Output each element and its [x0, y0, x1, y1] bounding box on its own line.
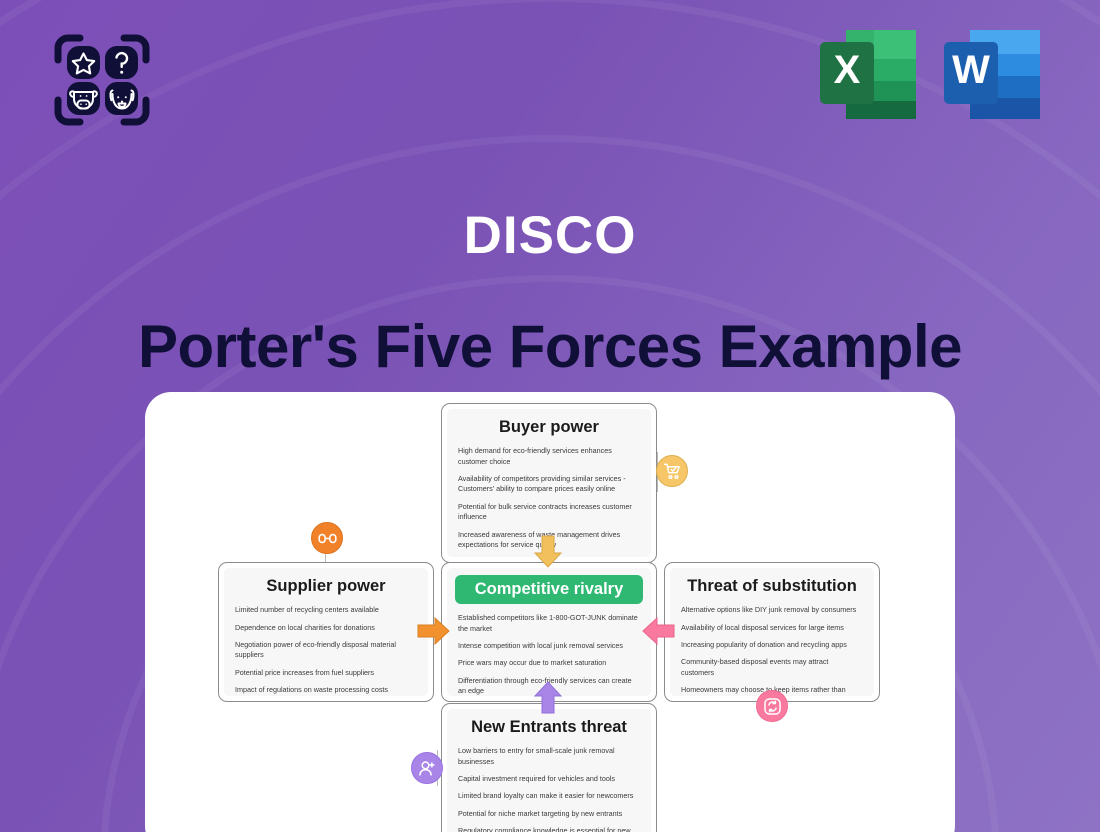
handshake-icon — [318, 529, 337, 548]
list-item: Potential for niche market targeting by … — [458, 809, 640, 819]
poster-canvas: X W DISCO Porter's Five Forces Example — [0, 0, 1100, 832]
force-title-supplier-power: Supplier power — [235, 577, 417, 595]
force-box-inner: Threat of substitution Alternative optio… — [670, 568, 874, 696]
brand-name: DISCO — [0, 205, 1100, 266]
list-item: Intense competition with local junk remo… — [458, 641, 640, 651]
arrow-entrants-to-rivalry — [533, 680, 563, 714]
excel-letter: X — [834, 48, 861, 92]
force-box-inner: New Entrants threat Low barriers to entr… — [447, 709, 651, 832]
force-box-threat-of-substitution[interactable]: Threat of substitution Alternative optio… — [664, 562, 880, 702]
list-item: Availability of local disposal services … — [681, 623, 863, 633]
user-plus-icon — [418, 759, 437, 778]
force-list-threat-of-substitution: Alternative options like DIY junk remova… — [681, 605, 863, 696]
force-list-supplier-power: Limited number of recycling centers avai… — [235, 605, 417, 696]
arrow-supplier-to-rivalry — [417, 616, 451, 646]
list-item: Regulatory compliance knowledge is essen… — [458, 826, 640, 832]
list-item: Potential price increases from fuel supp… — [235, 668, 417, 678]
list-item: Capital investment required for vehicles… — [458, 774, 640, 784]
force-box-new-entrants-threat[interactable]: New Entrants threat Low barriers to entr… — [441, 703, 657, 832]
list-item: Limited brand loyalty can make it easier… — [458, 791, 640, 801]
force-title-threat-of-substitution: Threat of substitution — [681, 577, 863, 595]
shopping-cart-icon — [663, 462, 682, 481]
force-box-inner: Supplier power Limited number of recycli… — [224, 568, 428, 696]
list-item: Alternative options like DIY junk remova… — [681, 605, 863, 615]
force-box-supplier-power[interactable]: Supplier power Limited number of recycli… — [218, 562, 434, 702]
force-list-new-entrants-threat: Low barriers to entry for small-scale ju… — [458, 746, 640, 832]
brand-logo[interactable] — [50, 30, 154, 130]
list-item: High demand for eco-friendly services en… — [458, 446, 640, 467]
arrow-substitution-to-rivalry — [641, 616, 675, 646]
list-item: Negotiation power of eco-friendly dispos… — [235, 640, 417, 661]
force-title-competitive-rivalry: Competitive rivalry — [455, 575, 643, 604]
page-title: Porter's Five Forces Example — [0, 312, 1100, 381]
list-item: Potential for bulk service contracts inc… — [458, 502, 640, 523]
badge-supplier-power[interactable] — [311, 522, 343, 554]
badge-threat-of-substitution[interactable] — [756, 690, 788, 722]
refresh-swap-icon — [763, 697, 782, 716]
diagram-card: Buyer power High demand for eco-friendly… — [145, 392, 955, 832]
force-title-new-entrants-threat: New Entrants threat — [458, 718, 640, 736]
list-item: Availability of competitors providing si… — [458, 474, 640, 495]
word-icon[interactable]: W — [942, 28, 1042, 123]
list-item: Established competitors like 1-800-GOT-J… — [458, 613, 640, 634]
list-item: Dependence on local charities for donati… — [235, 623, 417, 633]
list-item: Limited number of recycling centers avai… — [235, 605, 417, 615]
list-item: Price wars may occur due to market satur… — [458, 658, 640, 668]
force-box-inner: Competitive rivalry Established competit… — [447, 568, 651, 696]
five-forces-diagram: Buyer power High demand for eco-friendly… — [145, 392, 955, 832]
word-letter: W — [952, 48, 990, 92]
list-item: Low barriers to entry for small-scale ju… — [458, 746, 640, 767]
arrow-buyer-to-rivalry — [533, 535, 563, 569]
badge-new-entrants-threat[interactable] — [411, 752, 443, 784]
badge-buyer-power[interactable] — [656, 455, 688, 487]
excel-icon[interactable]: X — [818, 28, 918, 123]
list-item: Impact of regulations on waste processin… — [235, 685, 417, 695]
list-item: Community-based disposal events may attr… — [681, 657, 863, 678]
force-title-buyer-power: Buyer power — [458, 418, 640, 436]
list-item: Increasing popularity of donation and re… — [681, 640, 863, 650]
